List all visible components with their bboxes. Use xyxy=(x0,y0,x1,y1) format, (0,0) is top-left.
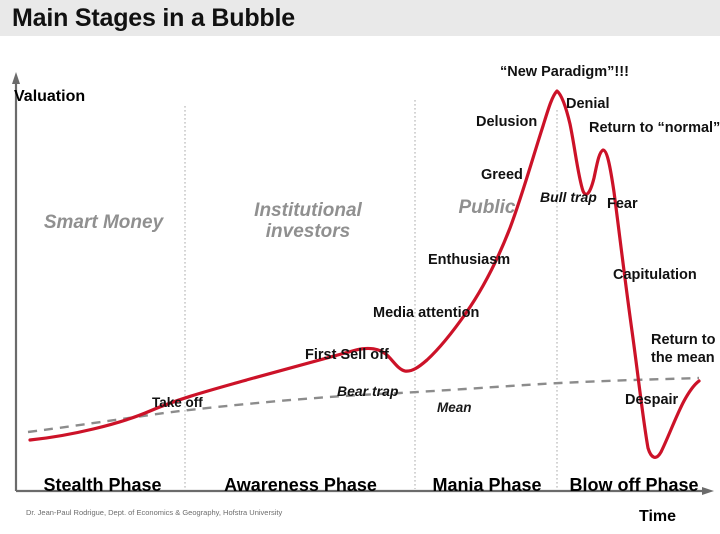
annotation-return-to-mean-line2: the mean xyxy=(651,350,715,366)
annotation-capitulation: Capitulation xyxy=(613,267,697,283)
annotation-take-off: Take off xyxy=(152,395,203,410)
annotation-bull-trap: Bull trap xyxy=(540,190,597,206)
annotation-despair: Despair xyxy=(625,392,678,408)
group-label-public: Public xyxy=(440,197,534,218)
group-label-smart-money: Smart Money xyxy=(36,212,171,233)
phase-label-mania: Mania Phase xyxy=(418,475,556,495)
annotation-fear: Fear xyxy=(607,196,638,212)
annotation-first-sell-off: First Sell off xyxy=(305,347,389,363)
phase-label-blow-off: Blow off Phase xyxy=(560,475,708,495)
x-axis-label: Time xyxy=(639,508,676,526)
annotation-media-attention: Media attention xyxy=(373,305,479,321)
phase-dividers xyxy=(185,100,557,489)
annotation-enthusiasm: Enthusiasm xyxy=(428,252,510,268)
annotation-return-to-normal: Return to “normal” xyxy=(589,120,720,136)
annotation-new-paradigm: “New Paradigm”!!! xyxy=(500,64,629,80)
phase-label-stealth: Stealth Phase xyxy=(20,475,185,495)
group-label-institutional-investors: Institutional investors xyxy=(228,200,388,243)
annotation-delusion: Delusion xyxy=(476,114,537,130)
valuation-curve xyxy=(30,91,699,457)
bubble-chart-slide: Main Stages in a Bubble Valuation Time S… xyxy=(0,0,720,534)
attribution-text: Dr. Jean-Paul Rodrigue, Dept. of Economi… xyxy=(26,508,282,517)
annotation-greed: Greed xyxy=(481,167,523,183)
y-axis-label: Valuation xyxy=(14,88,85,106)
annotation-return-to-mean-line1: Return to xyxy=(651,332,715,348)
annotation-bear-trap: Bear trap xyxy=(337,384,398,400)
y-axis xyxy=(12,72,20,491)
phase-label-awareness: Awareness Phase xyxy=(188,475,413,495)
annotation-denial: Denial xyxy=(566,96,610,112)
annotation-mean: Mean xyxy=(437,400,472,415)
